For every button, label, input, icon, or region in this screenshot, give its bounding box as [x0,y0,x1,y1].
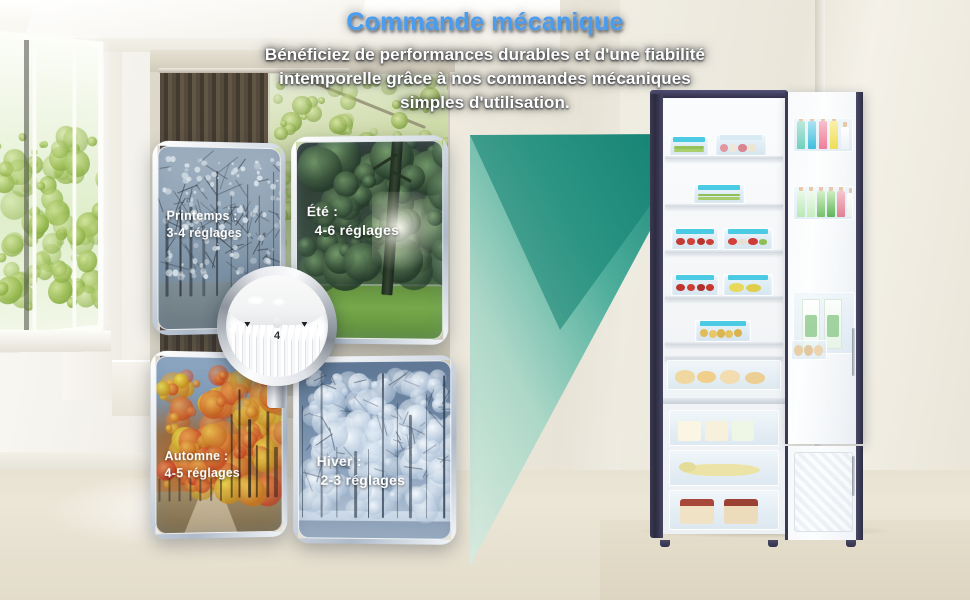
fridge-foot [660,540,670,547]
food-items [726,279,770,294]
bottle [797,121,805,149]
food-items [696,189,742,203]
food-container [715,134,767,156]
food-container [671,274,719,296]
shelf [665,204,783,207]
bottle [797,191,805,217]
food-items [674,233,716,248]
freezer-door-panel [794,452,853,532]
food-items [672,141,707,155]
scene-winter [298,360,451,540]
freezer-door-handle[interactable] [852,456,855,496]
fridge-door-edge [856,92,863,444]
food-container [693,184,745,204]
shelf [665,296,783,299]
bottle [827,191,835,217]
shelf [665,156,783,159]
fridge-body [650,90,865,542]
bottle [841,127,849,149]
bottle [837,191,845,217]
panel-spring-season: Printemps : [167,209,238,223]
food-container [723,274,773,296]
food-items [672,366,775,388]
egg [804,345,813,356]
freezer-drawer[interactable] [669,410,779,446]
carton-label [805,315,817,337]
panel-summer-setting: 4-6 réglages [315,221,400,240]
food-items [674,279,716,294]
freezer-door-edge [856,446,863,540]
panel-autumn-setting: 4-5 réglages [165,465,241,482]
panel-spring-caption: Printemps : 3-4 réglages [167,208,242,242]
food-container [723,228,773,250]
panel-winter[interactable]: Hiver : 2-3 réglages [293,355,456,545]
food-container [695,320,751,342]
fridge-door-handle[interactable] [852,328,855,376]
dial-center-nub [273,318,281,328]
dial-face: 4 [226,275,328,377]
food-items [718,139,764,154]
fridge-foot [768,540,778,547]
fridge-left-casing [650,94,663,538]
shelf [665,342,783,345]
shelf [665,250,783,253]
bottle [847,193,853,217]
food-container [669,136,709,156]
door-bottle-rack [793,118,853,152]
bottle [808,121,816,149]
crisper-drawer[interactable] [667,360,781,390]
carton-label [827,315,839,337]
fridge-foot [846,540,856,547]
bottle [830,121,838,149]
fridge-top-panel [650,90,788,98]
door-bottle-rack [793,186,853,220]
freezer-door[interactable] [785,446,863,540]
food-items [676,418,771,443]
panel-winter-setting: 2-3 réglages [321,471,406,490]
panel-autumn-season: Automne : [165,449,229,463]
bottle [817,191,825,217]
egg [794,345,803,356]
bottle [807,191,815,217]
panel-winter-image [298,360,451,540]
freezer-drawer[interactable] [669,450,779,486]
food-items [676,458,771,483]
panel-summer-season: Été : [307,203,338,219]
egg [814,345,823,356]
fridge-compartment [663,98,785,534]
freezer-drawer[interactable] [669,490,779,530]
panel-summer-caption: Été : 4-6 réglages [307,202,399,240]
fridge-door[interactable] [785,92,863,444]
panel-spring-setting: 3-4 réglages [167,225,242,242]
dial-highlight [248,297,262,303]
food-container [671,228,719,250]
crisper-rail [665,356,783,359]
thermostat-dial-icon[interactable]: 4 [217,266,337,386]
panel-autumn-caption: Automne : 4-5 réglages [165,448,241,482]
food-items [698,325,748,340]
panel-winter-season: Hiver : [317,453,362,469]
bottle [819,121,827,149]
door-egg-rack [791,340,827,360]
refrigerator-icon[interactable] [650,90,865,542]
food-items [676,496,771,527]
compartment-divider [663,398,785,404]
dial-value: 4 [226,330,328,342]
panel-winter-caption: Hiver : 2-3 réglages [317,452,406,490]
promo-banner: Printemps : 3-4 réglages Été : 4-6 régla… [0,0,970,600]
food-items [726,233,770,248]
dial-highlight [273,299,284,304]
